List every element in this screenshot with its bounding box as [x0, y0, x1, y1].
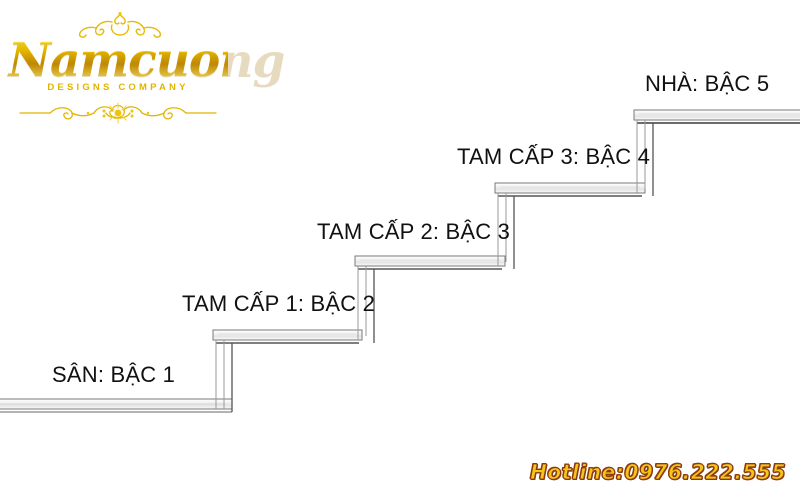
step-5-geometry	[634, 110, 800, 196]
step-2-geometry	[213, 330, 362, 412]
step-label-nha-bac-5: NHÀ: BẬC 5	[645, 71, 769, 97]
hotline-text: Hotline:0976.222.555	[530, 460, 786, 484]
step-label-tam-cap-1-bac-2: TAM CẤP 1: BẬC 2	[182, 291, 375, 317]
step-label-tam-cap-2-bac-3: TAM CẤP 2: BẬC 3	[317, 219, 510, 245]
step-label-san-bac-1: SÂN: BẬC 1	[52, 362, 175, 388]
step-3-geometry	[355, 256, 505, 343]
step-4-geometry	[495, 183, 645, 269]
step-1-geometry	[0, 399, 232, 412]
diagram-canvas: Namcuong DESIGNS COMPANY	[0, 0, 800, 500]
step-label-tam-cap-3-bac-4: TAM CẤP 3: BẬC 4	[457, 144, 650, 170]
